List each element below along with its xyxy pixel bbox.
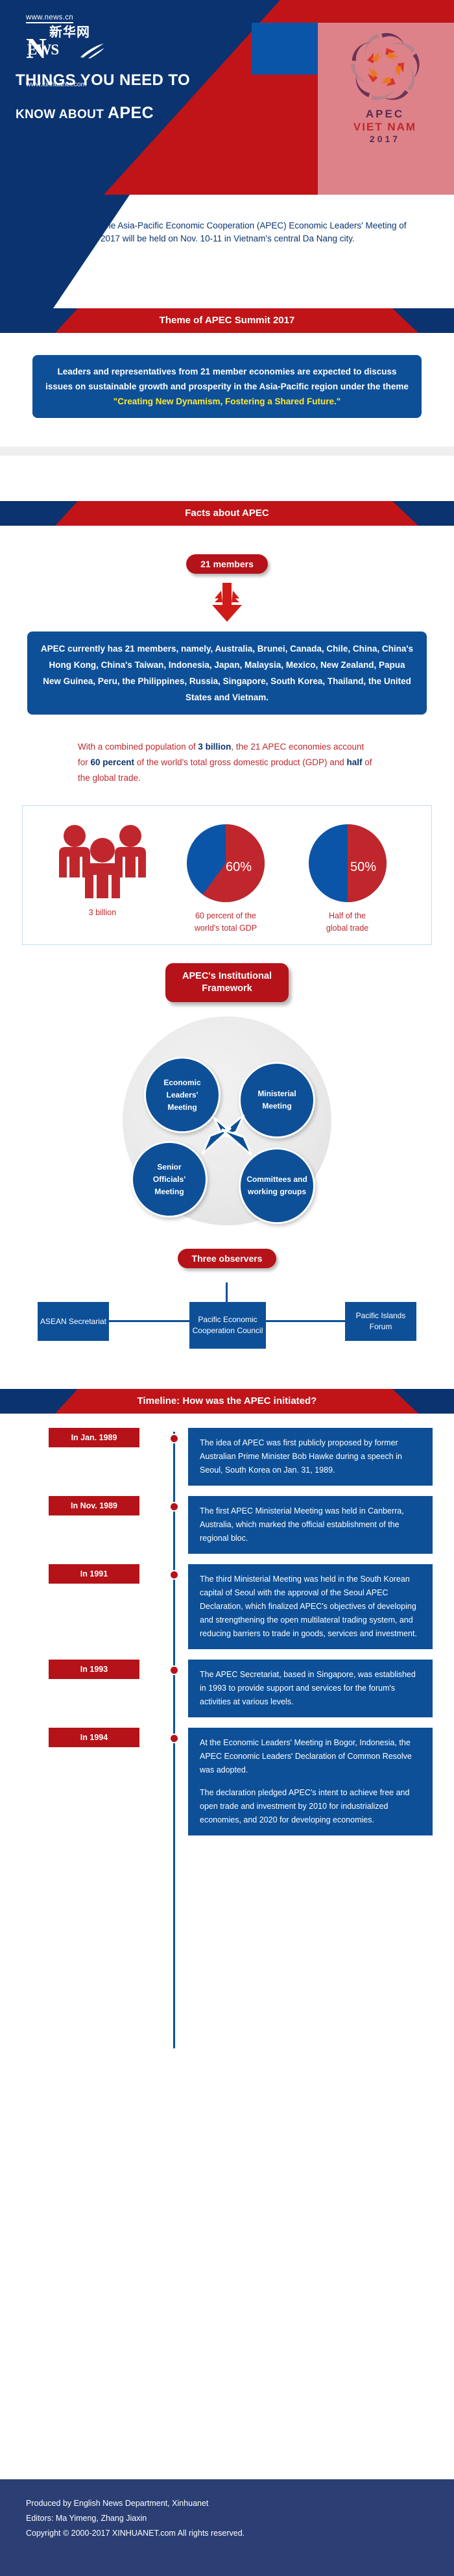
observer-label-0: ASEAN Secretariat: [40, 1316, 106, 1327]
stats-panel: 3 billion 60% 60 percent of the world's …: [22, 805, 432, 945]
framework-bubble-senior-officials-meeting[interactable]: Senior Officials' Meeting: [131, 1141, 208, 1218]
timeline-body-3: The APEC Secretariat, based in Singapore…: [188, 1660, 433, 1717]
framework-bubble-label-0: Economic Leaders' Meeting: [146, 1077, 219, 1114]
timeline-para-3-0: The APEC Secretariat, based in Singapore…: [200, 1668, 421, 1709]
timeline-date-1: In Nov. 1989: [49, 1496, 139, 1515]
hero-title-line2-big: APEC: [108, 104, 154, 122]
observer-label-2: Pacific Islands Forum: [345, 1310, 416, 1332]
timeline-para-4-1: The declaration pledged APEC's intent to…: [200, 1786, 421, 1827]
timeline-body-2: The third Ministerial Meeting was held i…: [188, 1564, 433, 1649]
stat-trade-label-line1: Half of the: [294, 910, 401, 922]
stat-population: 3 billion: [47, 822, 158, 919]
intro-band: The Asia-Pacific Economic Cooperation (A…: [0, 195, 454, 308]
stat-trade-label: Half of the global trade: [294, 910, 401, 935]
facts-summary-text: With a combined population of 3 billion,…: [78, 739, 376, 786]
pie-chart-trade: 50%: [306, 822, 389, 905]
framework-diagram: Economic Leaders' Meeting Ministerial Me…: [0, 997, 454, 1270]
timeline-banner: Timeline: How was the APEC initiated?: [0, 1389, 454, 1414]
timeline-dot-4: [169, 1734, 179, 1743]
timeline-body-0: The idea of APEC was first publicly prop…: [188, 1428, 433, 1486]
timeline-banner-label: Timeline: How was the APEC initiated?: [0, 1389, 454, 1414]
apec-lotus-icon: [333, 27, 437, 110]
timeline-para-1-0: The first APEC Ministerial Meeting was h…: [200, 1504, 421, 1545]
observer-asean-secretariat[interactable]: ASEAN Secretariat: [38, 1302, 109, 1341]
framework-bubble-label-3: Committees and working groups: [241, 1173, 313, 1198]
footer: Produced by English News Department, Xin…: [0, 2479, 454, 2576]
members-list-card: APEC currently has 21 members, namely, A…: [27, 632, 427, 715]
hero-title-line2-small: KNOW ABOUT: [16, 108, 108, 121]
stat-gdp-label-line1: 60 percent of the: [164, 910, 287, 922]
xinhua-news-wordmark: EWS: [27, 42, 58, 58]
timeline-entry: In Jan. 1989 The idea of APEC was first …: [0, 1428, 454, 1486]
section-divider: [0, 447, 454, 456]
summary-seg3: of the world's total gross domestic prod…: [134, 757, 346, 767]
timeline-body-4: At the Economic Leaders' Meeting in Bogo…: [188, 1728, 433, 1835]
timeline-date-4: In 1994: [49, 1728, 139, 1747]
framework-title-line1: APEC's Institutional: [182, 971, 272, 981]
apec-logo-line2: VIET NAM: [325, 121, 445, 134]
framework-bubble-committees-working-groups[interactable]: Committees and working groups: [239, 1147, 315, 1224]
stat-trade-label-line2: global trade: [294, 922, 401, 935]
framework-title-pill: APEC's Institutional Framework: [165, 963, 289, 1002]
intro-navy-wedge: [0, 195, 143, 308]
timeline-para-2-0: The third Ministerial Meeting was held i…: [200, 1573, 421, 1641]
framework-bubble-label-2: Senior Officials' Meeting: [133, 1161, 206, 1198]
stat-trade: 50% Half of the global trade: [294, 822, 401, 935]
observer-pacific-islands-forum[interactable]: Pacific Islands Forum: [345, 1302, 416, 1341]
timeline-date-2: In 1991: [49, 1564, 139, 1584]
page-title: THINGS YOU NEED TO KNOW ABOUT APEC: [16, 71, 288, 123]
hero-title-line1: THINGS YOU NEED TO: [16, 71, 288, 90]
intro-text: The Asia-Pacific Economic Cooperation (A…: [101, 219, 425, 245]
timeline-entry: In 1994 At the Economic Leaders' Meeting…: [0, 1728, 454, 1835]
swoosh-icon: [79, 42, 105, 58]
summary-highlight-population: 3 billion: [198, 742, 231, 752]
down-arrow-icon: [206, 583, 248, 624]
timeline-dot-0: [169, 1434, 179, 1443]
observer-label-1: Pacific Economic Cooperation Council: [189, 1314, 266, 1336]
timeline-para-4-0: At the Economic Leaders' Meeting in Bogo…: [200, 1736, 421, 1777]
theme-card-text: Leaders and representatives from 21 memb…: [45, 367, 409, 391]
bubble-tail-3: [218, 1124, 253, 1158]
theme-banner-label: Theme of APEC Summit 2017: [0, 308, 454, 333]
timeline-entry: In 1993 The APEC Secretariat, based in S…: [0, 1660, 454, 1717]
observer-pacific-economic-cooperation-council[interactable]: Pacific Economic Cooperation Council: [189, 1302, 266, 1349]
pie-chart-gdp: 60%: [184, 822, 267, 905]
observers-connector-vertical: [226, 1282, 228, 1302]
stat-gdp-label: 60 percent of the world's total GDP: [164, 910, 287, 935]
theme-card: Leaders and representatives from 21 memb…: [32, 355, 422, 418]
framework-bubble-label-1: Ministerial Meeting: [241, 1088, 313, 1112]
footer-copyright: Copyright © 2000-2017 XINHUANET.com All …: [26, 2526, 454, 2541]
timeline-dot-3: [169, 1665, 179, 1675]
timeline-para-0-0: The idea of APEC was first publicly prop…: [200, 1436, 421, 1477]
timeline-date-3: In 1993: [49, 1660, 139, 1679]
stat-population-label: 3 billion: [47, 907, 158, 919]
theme-card-quote: "Creating New Dynamism, Fostering a Shar…: [113, 397, 340, 406]
apec-logo-line3: 2017: [325, 134, 445, 144]
footer-produced-by: Produced by English News Department, Xin…: [26, 2496, 454, 2511]
people-group-icon: [47, 822, 158, 898]
footer-editors: Editors: Ma Yimeng, Zhang Jiaxin: [26, 2511, 454, 2526]
timeline-body-1: The first APEC Ministerial Meeting was h…: [188, 1496, 433, 1554]
xinhua-url-top: www.news.cn: [26, 14, 73, 23]
timeline-dot-1: [169, 1502, 179, 1512]
stat-gdp: 60% 60 percent of the world's total GDP: [164, 822, 287, 935]
apec-logo-line1: APEC: [325, 108, 445, 121]
timeline-entry: In 1991 The third Ministerial Meeting wa…: [0, 1564, 454, 1649]
framework-title-line2: Framework: [202, 983, 252, 994]
pie-trade-value: 50%: [350, 860, 376, 874]
hero-title-line2: KNOW ABOUT APEC: [16, 104, 288, 123]
timeline-dot-2: [169, 1570, 179, 1580]
stat-gdp-label-line2: world's total GDP: [164, 922, 287, 935]
apec-vietnam-2017-logo: APEC VIET NAM 2017: [325, 27, 445, 144]
summary-seg1: With a combined population of: [78, 742, 198, 752]
theme-banner: Theme of APEC Summit 2017: [0, 308, 454, 333]
pie-gdp-value: 60%: [226, 860, 252, 874]
timeline-date-0: In Jan. 1989: [49, 1428, 139, 1447]
timeline-entry: In Nov. 1989 The first APEC Ministerial …: [0, 1496, 454, 1554]
facts-banner-label: Facts about APEC: [0, 501, 454, 526]
framework-bubble-economic-leaders-meeting[interactable]: Economic Leaders' Meeting: [144, 1057, 221, 1133]
observers-diagram: ASEAN Secretariat Pacific Economic Coope…: [0, 1282, 454, 1380]
hero-header: www.news.cn N 新华网 EWS www.xinhuanet.com …: [0, 0, 454, 195]
members-count-pill: 21 members: [186, 554, 268, 574]
timeline-list: In Jan. 1989 The idea of APEC was first …: [0, 1414, 454, 1835]
summary-highlight-gdp: 60 percent: [91, 757, 135, 767]
facts-banner: Facts about APEC: [0, 501, 454, 526]
xinhua-chinese-name: 新华网: [49, 26, 90, 39]
summary-highlight-trade: half: [347, 757, 363, 767]
